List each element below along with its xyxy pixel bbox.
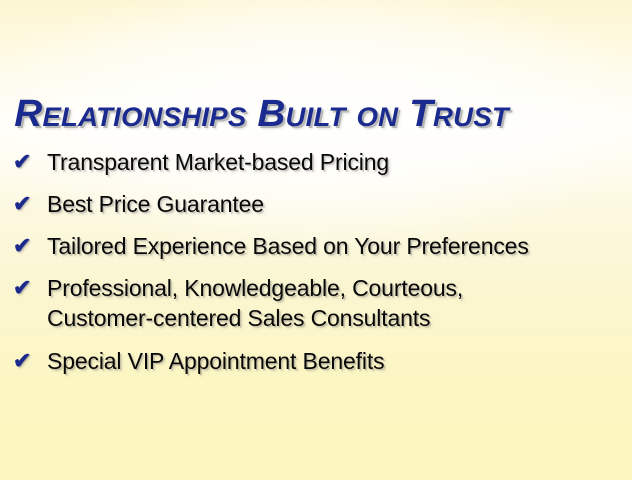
slide-title-container: Relationships Built on Trust bbox=[0, 92, 632, 140]
check-icon: ✔ bbox=[13, 147, 47, 177]
check-icon: ✔ bbox=[13, 189, 47, 219]
list-item: ✔ Best Price Guarantee bbox=[0, 189, 632, 219]
list-item: ✔ Special VIP Appointment Benefits bbox=[0, 346, 632, 376]
benefits-list: ✔ Transparent Market-based Pricing ✔ Bes… bbox=[0, 147, 632, 388]
list-item-label: Best Price Guarantee bbox=[47, 189, 632, 219]
check-icon: ✔ bbox=[13, 273, 47, 303]
list-item-label: Tailored Experience Based on Your Prefer… bbox=[47, 231, 632, 261]
check-icon: ✔ bbox=[13, 231, 47, 261]
list-item: ✔ Tailored Experience Based on Your Pref… bbox=[0, 231, 632, 261]
check-icon: ✔ bbox=[13, 346, 47, 376]
list-item-label: Professional, Knowledgeable, Courteous, … bbox=[47, 273, 632, 333]
list-item: ✔ Professional, Knowledgeable, Courteous… bbox=[0, 273, 632, 333]
page-title: Relationships Built on Trust bbox=[0, 92, 632, 136]
list-item: ✔ Transparent Market-based Pricing bbox=[0, 147, 632, 177]
list-item-label: Special VIP Appointment Benefits bbox=[47, 346, 632, 376]
list-item-label: Transparent Market-based Pricing bbox=[47, 147, 632, 177]
presentation-slide: Relationships Built on Trust ✔ Transpare… bbox=[0, 0, 632, 480]
